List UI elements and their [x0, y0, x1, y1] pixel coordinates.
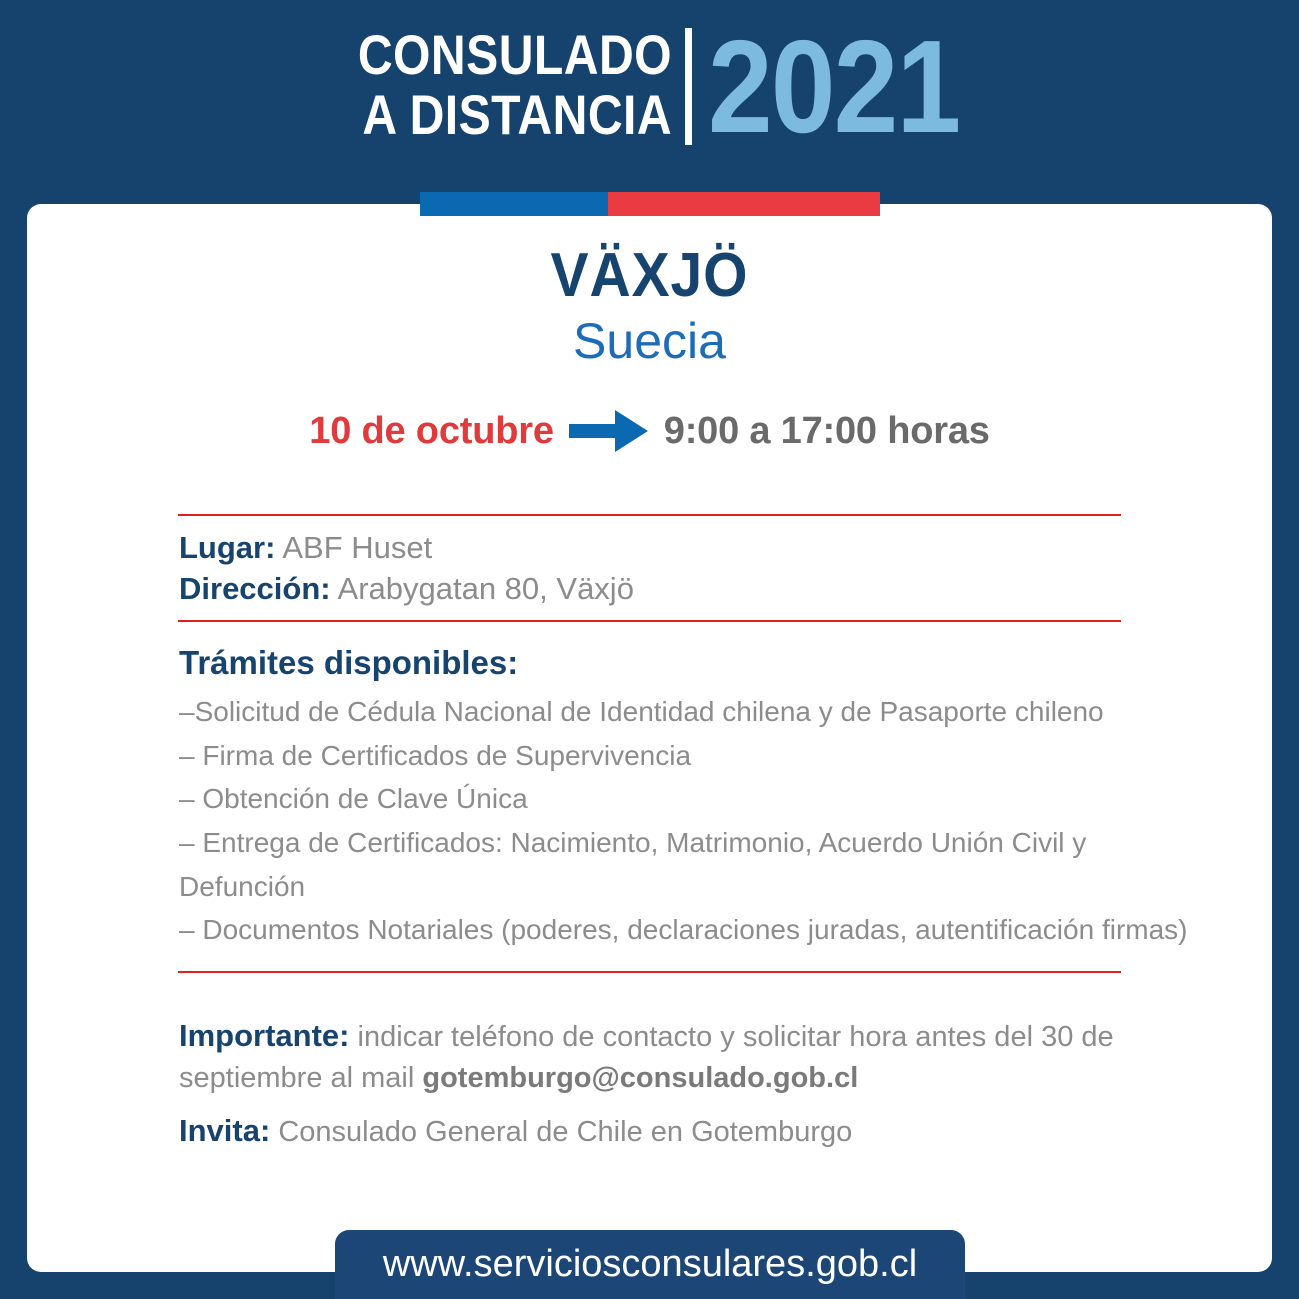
venue-address-label: Dirección:: [179, 571, 331, 606]
flag-accent-bar: [420, 192, 880, 216]
footer-url-pill[interactable]: www.serviciosconsulares.gob.cl: [335, 1230, 965, 1299]
brand-separator-bar: [685, 28, 692, 145]
services-title: Trámites disponibles:: [179, 644, 518, 682]
list-item: – Documentos Notariales (poderes, declar…: [179, 908, 1189, 952]
list-item: – Entrega de Certificados: Nacimiento, M…: [179, 821, 1189, 908]
country-subtitle: Suecia: [27, 312, 1272, 370]
event-date: 10 de octubre: [309, 410, 553, 453]
venue-address-value: Arabygatan 80, Växjö: [338, 571, 634, 606]
flag-segment-red: [608, 192, 880, 216]
venue-address-line: Dirección: Arabygatan 80, Växjö: [179, 569, 1179, 610]
flag-segment-blue: [420, 192, 608, 216]
date-time-row: 10 de octubre 9:00 a 17:00 horas: [27, 407, 1272, 455]
arrow-right-icon: [554, 407, 664, 455]
event-time: 9:00 a 17:00 horas: [664, 410, 990, 453]
venue-place-label: Lugar:: [179, 530, 275, 565]
header-banner: CONSULADO A DISTANCIA 2021: [0, 0, 1299, 204]
footer-url-text: www.serviciosconsulares.gob.cl: [383, 1243, 917, 1286]
important-note: Importante: indicar teléfono de contacto…: [179, 1014, 1139, 1098]
brand-title-line1: CONSULADO: [358, 25, 672, 85]
brand-title: CONSULADO A DISTANCIA: [358, 25, 683, 145]
contact-email: gotemburgo@consulado.gob.cl: [422, 1062, 858, 1094]
divider-bottom: [178, 971, 1121, 973]
header-brand-group: CONSULADO A DISTANCIA 2021: [0, 22, 1299, 147]
divider-middle: [178, 620, 1121, 622]
content-card: VÄXJÖ Suecia 10 de octubre 9:00 a 17:00 …: [27, 204, 1272, 1272]
brand-title-line2: A DISTANCIA: [358, 85, 672, 145]
venue-block: Lugar: ABF Huset Dirección: Arabygatan 8…: [179, 528, 1179, 610]
list-item: – Firma de Certificados de Supervivencia: [179, 734, 1189, 778]
poster-root: CONSULADO A DISTANCIA 2021 VÄXJÖ Suecia …: [0, 0, 1299, 1299]
services-list: –Solicitud de Cédula Nacional de Identid…: [179, 690, 1189, 952]
brand-year: 2021: [708, 24, 959, 149]
list-item: – Obtención de Clave Única: [179, 777, 1189, 821]
venue-place-value: ABF Huset: [282, 530, 432, 565]
divider-top: [178, 514, 1121, 516]
invita-value: Consulado General de Chile en Gotemburgo: [270, 1116, 852, 1148]
invita-label: Invita:: [179, 1113, 270, 1148]
venue-place-line: Lugar: ABF Huset: [179, 528, 1179, 569]
important-label: Importante:: [179, 1018, 350, 1053]
list-item: –Solicitud de Cédula Nacional de Identid…: [179, 690, 1189, 734]
city-title: VÄXJÖ: [77, 240, 1222, 311]
invita-note: Invita: Consulado General de Chile en Go…: [179, 1109, 1139, 1153]
